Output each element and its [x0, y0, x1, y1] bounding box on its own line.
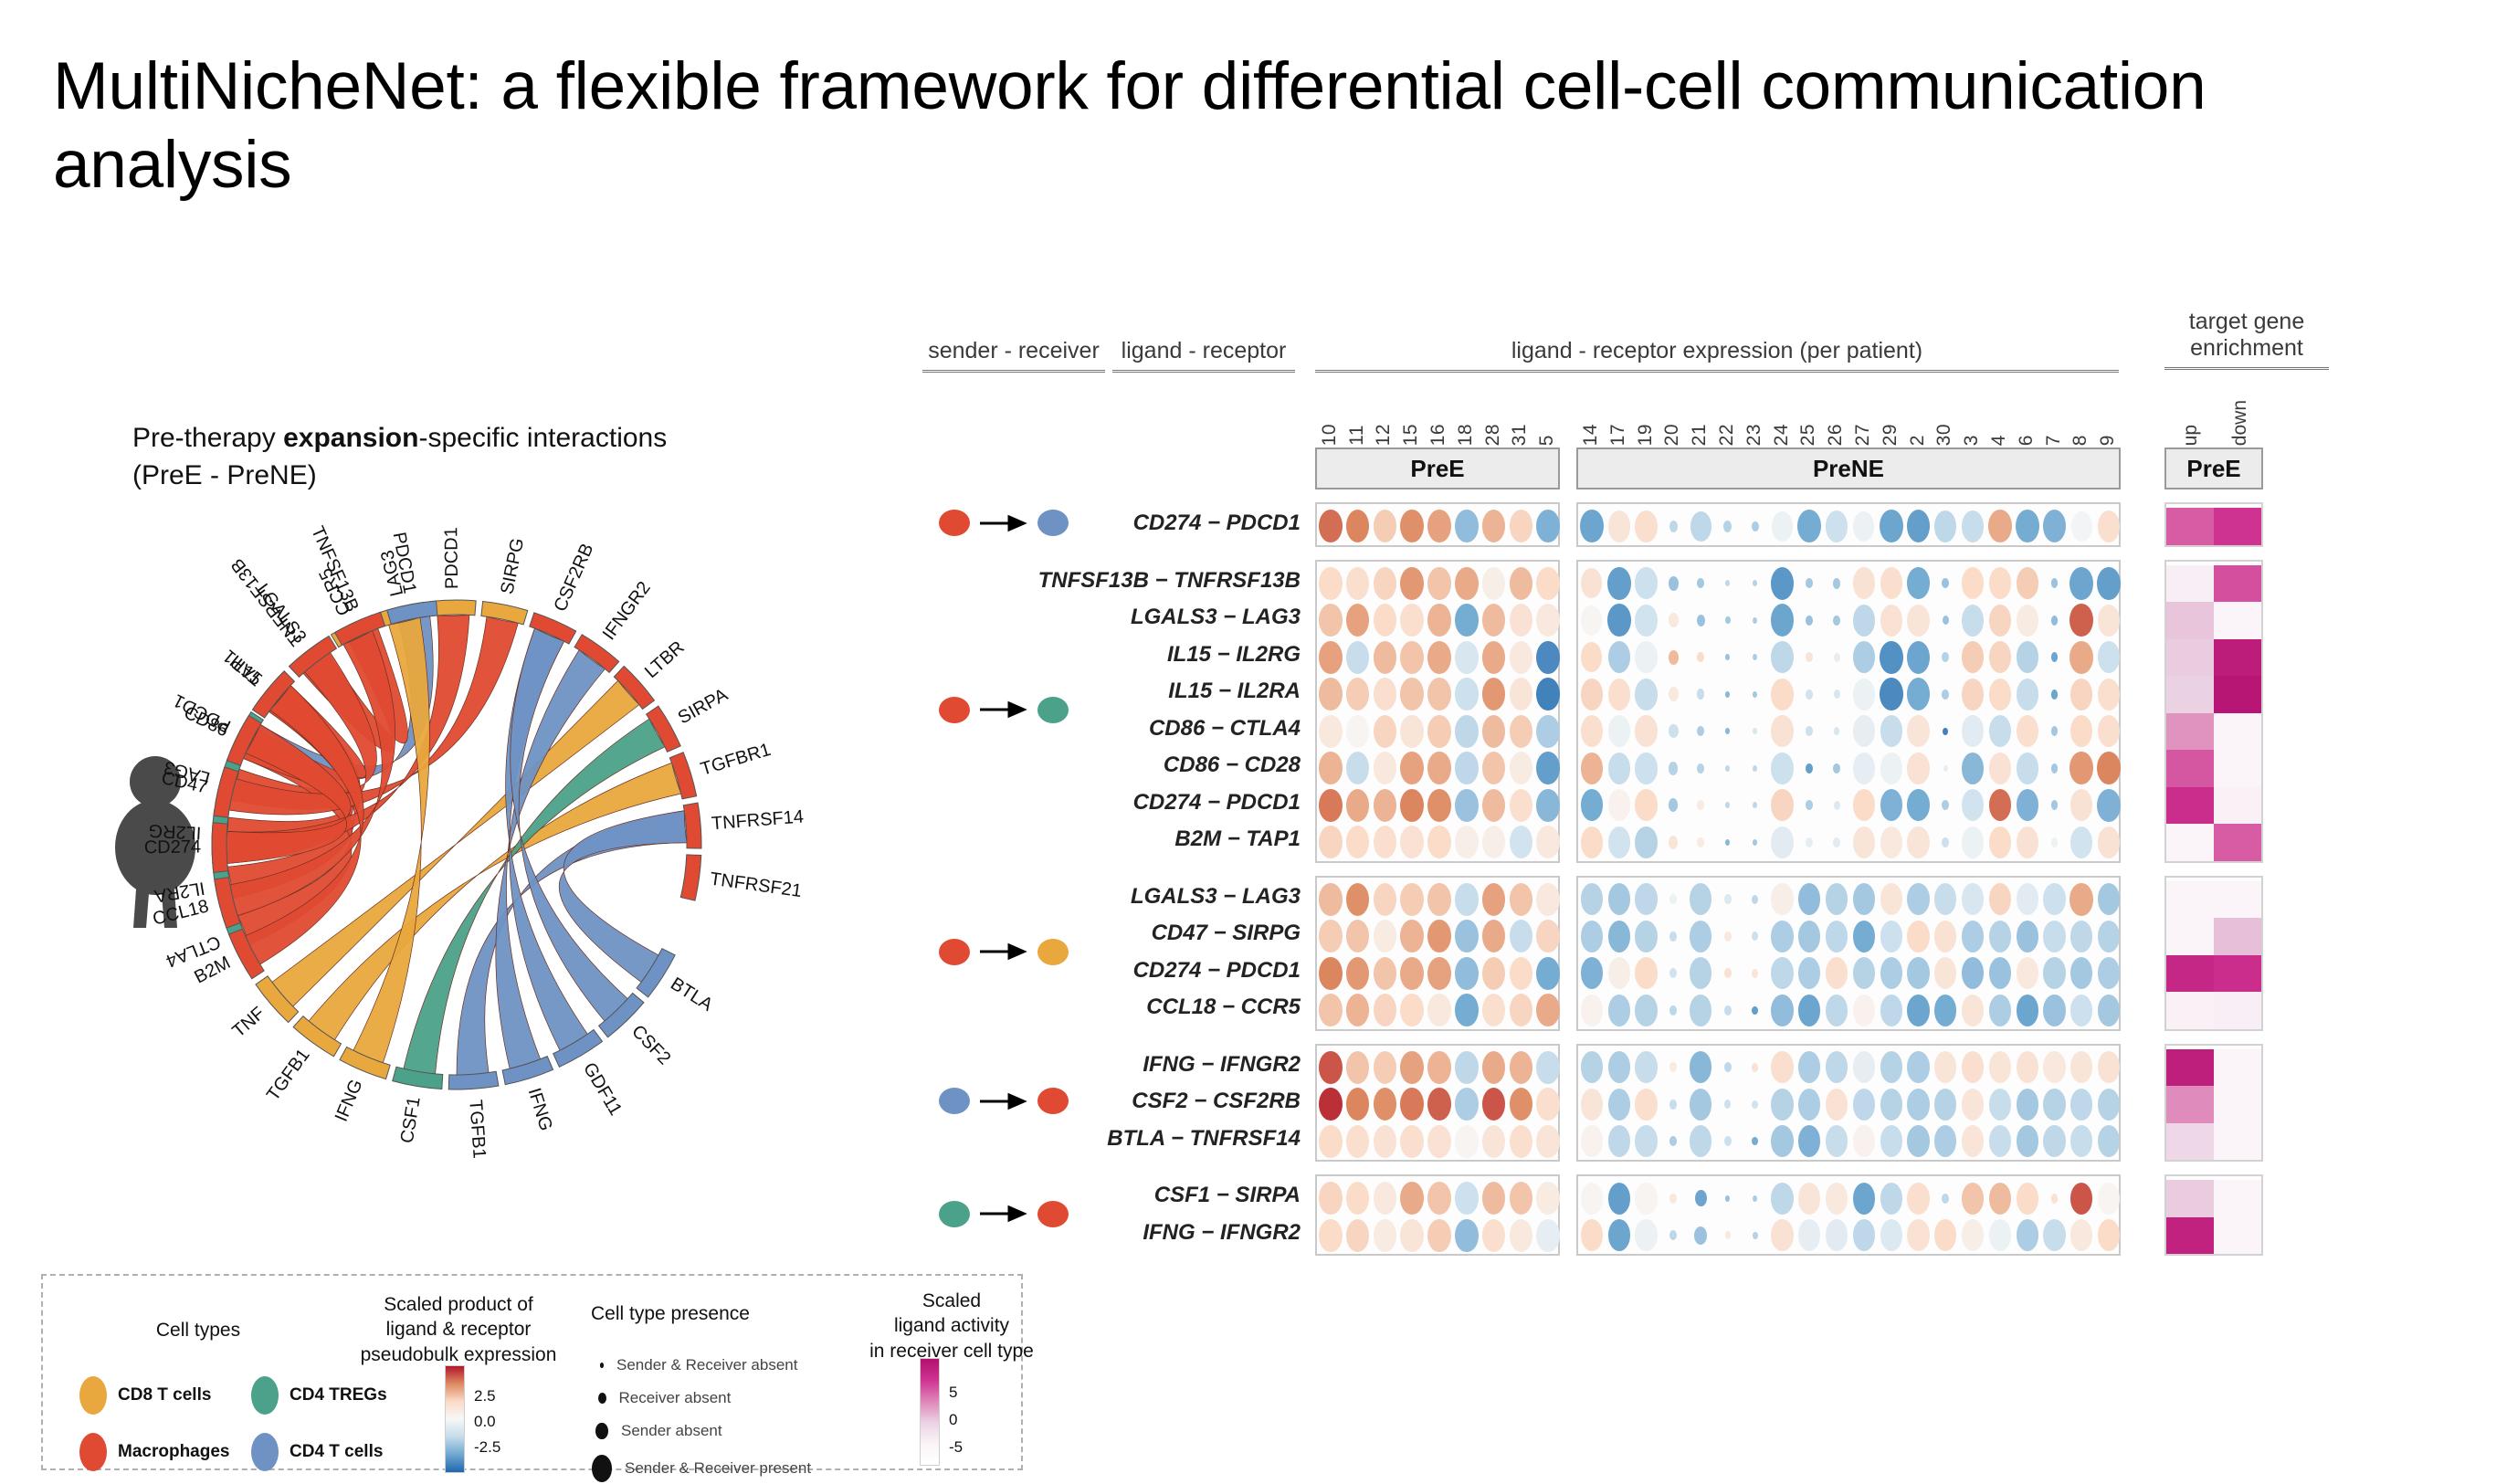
expression-dot	[2070, 1051, 2092, 1083]
expression-dot	[1346, 957, 1370, 990]
tge-column-tick: up	[2180, 425, 2202, 446]
expression-dot	[2070, 826, 2092, 858]
expression-dot	[1772, 511, 1793, 542]
expression-dot	[1853, 1051, 1875, 1083]
expression-dot	[1607, 604, 1631, 637]
expression-dot	[1962, 1219, 1984, 1251]
legend-presence-item: Receiver absent	[591, 1389, 865, 1407]
expression-dot	[1725, 839, 1730, 846]
expression-dot	[1580, 510, 1604, 542]
patient-tick: 31	[1509, 424, 1531, 446]
patient-tick: 21	[1689, 424, 1711, 446]
tge-cell-up	[2166, 713, 2214, 751]
expression-dot	[1346, 1051, 1370, 1084]
expression-dot	[2043, 510, 2067, 542]
expression-dot	[1400, 715, 1424, 748]
expression-dot	[1962, 641, 1984, 673]
expression-dot	[1346, 510, 1370, 542]
chord-title-post: -specific interactions	[418, 423, 667, 453]
colorbar-tick: 0.0	[474, 1413, 496, 1431]
expression-dot	[1482, 1219, 1506, 1252]
chord-title-line2: (PreE - PreNE)	[132, 460, 317, 490]
expression-dot	[1608, 753, 1630, 784]
expression-dot	[1510, 1182, 1533, 1215]
expression-dot	[1346, 1125, 1370, 1158]
tge-cell-down	[2214, 676, 2261, 713]
legend-cell-type-item: CD4 T cells	[251, 1433, 383, 1471]
expression-dot	[2098, 510, 2120, 542]
expression-dot	[1608, 883, 1630, 915]
expression-dot	[1374, 567, 1397, 600]
expression-dot	[1833, 763, 1840, 774]
expression-dot	[1834, 653, 1840, 662]
chord-sector-label: TNFRSF14	[711, 806, 805, 834]
expression-dot	[1374, 920, 1397, 952]
expression-dot	[1989, 1051, 2011, 1083]
chord-diagram-svg: CTLA4IL2RAIL2RGLAG3PDCD1TAP1TNFRSF13BCCR…	[110, 498, 932, 1192]
legend-presence-dot	[595, 1423, 608, 1440]
expression-dot	[1374, 752, 1397, 784]
legend-cell-type-swatch	[251, 1376, 279, 1415]
expression-dot	[1536, 1051, 1560, 1084]
expression-dot	[1753, 1195, 1757, 1202]
chord-sector-ligand	[448, 1071, 499, 1089]
expression-dot	[2043, 1089, 2065, 1121]
expression-dot	[1635, 995, 1657, 1026]
expression-dot	[1907, 921, 1929, 952]
expression-dot	[1697, 800, 1704, 810]
expression-dot	[1635, 641, 1657, 673]
expression-dot	[2043, 921, 2065, 952]
expression-dot	[1482, 752, 1506, 784]
expression-dot	[1427, 567, 1451, 600]
expression-dot	[1510, 957, 1533, 990]
tge-cell-up	[2166, 918, 2214, 955]
expression-dot	[1934, 883, 1956, 915]
expression-dot	[2017, 567, 2038, 599]
expression-dot	[1771, 567, 1795, 600]
expression-dot	[1752, 1137, 1757, 1145]
expression-dot	[1400, 1088, 1424, 1121]
expression-dot	[1826, 957, 1848, 989]
expression-dot	[1374, 715, 1397, 748]
ligand-receptor-label: IL15 − IL2RG	[922, 642, 1301, 668]
expression-dot	[1510, 789, 1533, 822]
expression-dot	[1510, 1088, 1533, 1121]
expression-dot	[2070, 1089, 2092, 1121]
expression-dot	[1400, 826, 1424, 858]
expression-dot	[2017, 789, 2038, 821]
expression-dot	[2097, 567, 2121, 600]
ligand-receptor-label: B2M − TAP1	[922, 826, 1301, 852]
expression-dot	[1400, 883, 1424, 916]
expression-dot	[1834, 727, 1840, 735]
expression-dot	[1427, 604, 1451, 637]
expression-dot	[1853, 921, 1875, 952]
ligand-receptor-label: IFNG − IFNGR2	[922, 1220, 1301, 1246]
expression-dot	[1608, 715, 1630, 747]
tge-block	[2164, 876, 2263, 1031]
tge-cell-up	[2166, 992, 2214, 1029]
expression-dot	[1880, 678, 1903, 710]
expression-dot	[1427, 1088, 1451, 1121]
expression-dot	[1989, 753, 2011, 784]
expression-dot	[2017, 883, 2038, 915]
expression-dot	[1536, 1219, 1560, 1252]
ligand-activity-colorbar	[920, 1358, 940, 1466]
expression-dot	[1962, 567, 1984, 599]
expression-dot	[2017, 679, 2038, 710]
tge-cell-up	[2166, 508, 2214, 545]
tge-cell-up	[2166, 1123, 2214, 1161]
expression-dot	[1771, 1089, 1793, 1121]
chord-sector-label: TGFB1	[263, 1046, 314, 1105]
expression-dot	[1608, 1183, 1630, 1215]
legend-presence-label: Sender & Receiver present	[625, 1459, 811, 1478]
expression-dot	[1608, 1125, 1630, 1157]
patient-tick: 7	[2043, 435, 2065, 446]
expression-dot	[1697, 726, 1704, 736]
page-title: MultiNicheNet: a flexible framework for …	[53, 47, 2382, 205]
expression-dot	[1725, 691, 1730, 698]
expression-dot	[1427, 994, 1451, 1026]
expression-dot	[1806, 800, 1813, 810]
expression-dot	[1669, 1005, 1677, 1016]
expression-dot	[1806, 578, 1813, 588]
legend-cell-type-item: Macrophages	[79, 1433, 229, 1471]
expression-dot	[1455, 994, 1479, 1026]
legend-presence-item: Sender absent	[591, 1422, 865, 1440]
expression-dot	[1608, 679, 1630, 710]
expression-dot	[1635, 679, 1657, 710]
expression-dot	[1482, 826, 1506, 858]
legend-cell-type-swatch	[79, 1433, 107, 1471]
expression-dot	[1400, 1219, 1424, 1252]
chord-diagram-title: Pre-therapy expansion-specific interacti…	[132, 420, 667, 494]
expression-dot	[1907, 1089, 1929, 1121]
expression-dot	[1934, 1219, 1956, 1251]
chord-sector-label: IFNGR2	[599, 578, 655, 644]
expression-dot	[1635, 883, 1657, 915]
expression-dot	[1319, 1051, 1343, 1084]
legend-cell-types-title: Cell types	[79, 1318, 317, 1342]
expression-dot	[2098, 641, 2120, 673]
tge-block	[2164, 1044, 2263, 1163]
expression-dot	[1482, 567, 1506, 600]
expression-dot	[1853, 789, 1875, 821]
expression-dot	[1346, 604, 1370, 637]
tge-cell-up	[2166, 1049, 2214, 1087]
chord-sector-ligand	[212, 823, 228, 873]
expression-dot	[1455, 920, 1479, 952]
ligand-receptor-label: CSF1 − SIRPA	[922, 1183, 1301, 1208]
tge-cell-up	[2166, 1217, 2214, 1255]
expression-dot	[1880, 957, 1902, 989]
tge-cell-down	[2214, 992, 2261, 1029]
expression-dot	[1943, 616, 1949, 625]
tge-cell-up	[2166, 824, 2214, 861]
ligand-receptor-label: CD274 − PDCD1	[922, 958, 1301, 984]
expression-dot	[1635, 567, 1657, 599]
expression-dot	[1374, 883, 1397, 916]
expression-dot	[2051, 616, 2059, 626]
expression-dot	[1725, 1231, 1731, 1239]
expression-dot	[1853, 826, 1875, 858]
expression-dot	[1455, 678, 1479, 710]
tge-block	[2164, 560, 2263, 863]
expression-dot	[1826, 1219, 1848, 1251]
expression-dot	[1826, 921, 1848, 952]
header-rule-sender-receiver	[922, 368, 1105, 373]
tge-cell-down	[2214, 602, 2261, 639]
expression-dot	[1669, 968, 1677, 978]
legend-presence-label: Sender & Receiver absent	[616, 1356, 797, 1374]
expression-dot	[2069, 567, 2093, 600]
expression-dot	[1690, 511, 1711, 542]
expression-dot	[2051, 800, 2059, 810]
expression-dot	[1346, 826, 1370, 858]
expression-dot	[1400, 957, 1424, 990]
ligand-receptor-label: LGALS3 − LAG3	[922, 605, 1301, 630]
expression-dot	[1427, 920, 1451, 952]
expression-dot	[1455, 826, 1479, 858]
expression-dot	[1798, 1183, 1820, 1215]
expression-dot	[1374, 1051, 1397, 1084]
expression-dot	[1455, 883, 1479, 916]
expression-dot	[1346, 715, 1370, 748]
expression-dot	[1427, 1125, 1451, 1158]
patient-tick: 25	[1797, 424, 1819, 446]
expression-dot	[1319, 994, 1343, 1026]
expression-dot	[1536, 1088, 1560, 1121]
expression-dot	[1880, 605, 1902, 637]
expression-dot	[1669, 762, 1678, 775]
dot-block-pree	[1315, 1044, 1560, 1163]
expression-dot	[1833, 837, 1840, 847]
legend-cell-type-label: CD8 T cells	[118, 1385, 211, 1405]
expression-dot	[1374, 1219, 1397, 1252]
colorbar-tick: 2.5	[474, 1387, 496, 1405]
expression-dot	[1510, 604, 1533, 637]
tge-cell-down	[2214, 750, 2261, 787]
expression-dot	[1669, 836, 1678, 849]
tge-cell-down	[2214, 565, 2261, 603]
colorbar-tick: -5	[949, 1438, 963, 1457]
tge-column-ticks: updown	[2164, 378, 2263, 446]
expression-dot	[1427, 883, 1451, 916]
expression-dot	[1880, 826, 1902, 858]
tge-cell-down	[2214, 1086, 2261, 1123]
tge-cell-down	[2214, 1180, 2261, 1217]
expression-dot	[1635, 921, 1657, 952]
expression-dot	[1536, 883, 1560, 916]
expression-dot	[1771, 883, 1793, 915]
tge-cell-down	[2214, 508, 2261, 545]
expression-dot	[1806, 726, 1813, 736]
expression-dot	[2070, 957, 2092, 989]
expression-dot	[1853, 567, 1875, 599]
expression-dot	[1853, 957, 1875, 989]
expression-dot	[1635, 715, 1657, 747]
expression-dot	[1427, 957, 1451, 990]
expression-dot	[1346, 883, 1370, 916]
expression-dot	[1724, 1062, 1732, 1072]
tge-cell-down	[2214, 1049, 2261, 1087]
expression-dot	[1834, 689, 1840, 699]
expression-dot	[1635, 1183, 1657, 1215]
expression-dot	[1697, 689, 1704, 700]
chord-sector-label: TNF	[228, 1004, 269, 1042]
patient-tick: 6	[2016, 435, 2038, 446]
expression-dot	[1319, 604, 1343, 637]
expression-dot	[1907, 567, 1929, 599]
chord-title-bold: expansion	[283, 423, 418, 453]
expression-dot	[1400, 510, 1424, 542]
expression-dot	[1319, 789, 1343, 822]
expression-dot	[2017, 641, 2038, 673]
legend-cell-type-label: CD4 TREGs	[290, 1385, 387, 1405]
expression-dot	[1455, 752, 1479, 784]
legend-cell-type-label: Macrophages	[118, 1442, 229, 1462]
expression-dot	[1771, 641, 1793, 673]
expression-dot	[1319, 1088, 1343, 1121]
patient-tick: 17	[1607, 424, 1629, 446]
patient-tick: 12	[1373, 424, 1395, 446]
expression-dot	[1455, 789, 1479, 822]
expression-dot	[1635, 1219, 1657, 1251]
expression-dot	[1907, 789, 1929, 821]
expression-dot	[2071, 511, 2092, 542]
expression-dot	[2043, 883, 2065, 915]
colorbar-tick: -2.5	[474, 1438, 500, 1457]
chord-diagram-panel: Pre-therapy expansion-specific interacti…	[110, 402, 932, 1205]
tge-cell-up	[2166, 676, 2214, 713]
expression-dot	[1536, 510, 1560, 542]
expression-dot	[2043, 957, 2065, 989]
patient-tick: 5	[1536, 435, 1558, 446]
expression-dot	[2069, 752, 2093, 784]
expression-dot	[1581, 1125, 1603, 1157]
patient-tick: 3	[1961, 435, 1983, 446]
expression-dot	[1346, 752, 1370, 784]
expression-dot	[1942, 689, 1949, 700]
expression-dot	[1635, 1089, 1657, 1121]
expression-dot	[1455, 567, 1479, 600]
expression-dot	[1806, 689, 1813, 700]
expression-dot	[1934, 957, 1956, 989]
expression-dot	[1880, 567, 1902, 599]
expression-dot	[1374, 641, 1397, 674]
header-sender-receiver: sender - receiver	[922, 338, 1105, 373]
expression-dot	[1510, 1219, 1533, 1252]
expression-dot	[1319, 678, 1343, 710]
expression-dot	[1690, 1051, 1711, 1083]
legend-presence-label: Receiver absent	[619, 1389, 732, 1407]
expression-dot	[1510, 994, 1533, 1026]
ligand-receptor-label: CD274 − PDCD1	[922, 790, 1301, 816]
chord-sector-label: CD274	[144, 837, 202, 858]
patient-tick: 4	[1988, 435, 2010, 446]
expression-dot	[1798, 1125, 1820, 1157]
expression-dot	[1669, 687, 1680, 701]
ligand-receptor-label: CD47 − SIRPG	[922, 921, 1301, 946]
expression-dot	[1962, 995, 1984, 1026]
expression-dot	[1374, 510, 1397, 542]
expression-dot	[2098, 715, 2120, 747]
legend-presence-dot	[592, 1455, 612, 1482]
expression-dot	[1482, 604, 1506, 637]
expression-dot	[1826, 1183, 1848, 1215]
patient-tick: 23	[1743, 424, 1765, 446]
header-ligand-receptor: ligand - receptor	[1112, 338, 1295, 373]
patient-tick-labels: 141719202122232425262729230346789	[1576, 369, 2121, 446]
expression-dot	[2098, 995, 2120, 1026]
expression-dot	[1697, 578, 1704, 588]
expression-dot	[1581, 679, 1603, 710]
expression-dot	[1581, 883, 1603, 915]
dot-block-prene	[1576, 1044, 2121, 1163]
ligand-receptor-label: CD86 − CTLA4	[922, 716, 1301, 742]
tge-cell-down	[2214, 713, 2261, 751]
expression-dot	[1853, 679, 1875, 710]
expression-dot	[2051, 578, 2059, 588]
expression-dot	[1989, 1089, 2011, 1121]
expression-dot	[2017, 1183, 2038, 1215]
expression-dot	[1907, 678, 1931, 710]
ligand-receptor-label: CSF2 − CSF2RB	[922, 1089, 1301, 1114]
expression-dot	[2098, 605, 2120, 637]
expression-dot	[1907, 1183, 1929, 1215]
tge-cell-down	[2214, 955, 2261, 993]
chord-sector-label: PDCD1	[441, 527, 462, 589]
legend-cell-type-swatch	[79, 1376, 107, 1415]
expression-dot	[1510, 752, 1533, 784]
expression-dot	[1482, 789, 1506, 822]
expression-dot	[2017, 995, 2038, 1026]
expression-dot	[1853, 1089, 1875, 1121]
expression-dot	[1880, 921, 1902, 952]
expression-dot	[1608, 1051, 1630, 1083]
expression-dot	[1510, 1051, 1533, 1084]
expression-dot	[1725, 616, 1731, 624]
expression-dot	[2098, 679, 2120, 710]
expression-dot	[1319, 957, 1343, 990]
expression-dot	[1989, 957, 2011, 989]
expression-dot	[1510, 826, 1533, 858]
expression-dot	[1907, 883, 1929, 915]
tge-cell-up	[2166, 602, 2214, 639]
expression-dot	[1934, 921, 1956, 952]
expression-dot	[1753, 691, 1757, 698]
expression-dot	[1427, 752, 1451, 784]
header-expression: ligand - receptor expression (per patien…	[1315, 338, 2119, 373]
chord-ribbons	[226, 615, 687, 1075]
tge-cell-down	[2214, 639, 2261, 677]
expression-dot	[1581, 1219, 1603, 1251]
expression-dot	[1962, 510, 1984, 542]
expression-dot	[1346, 678, 1370, 710]
expression-dot	[1482, 510, 1506, 542]
expression-dot	[1669, 931, 1677, 942]
expression-dot	[2098, 1051, 2120, 1083]
legend-cell-type-label: CD4 T cells	[290, 1442, 383, 1462]
expression-dot	[1319, 1125, 1343, 1158]
tge-block	[2164, 502, 2263, 547]
expression-dot	[1427, 1051, 1451, 1084]
expression-dot	[1880, 1051, 1902, 1083]
condition-box-prene: PreNE	[1576, 447, 2121, 489]
expression-dot	[1690, 1089, 1711, 1121]
